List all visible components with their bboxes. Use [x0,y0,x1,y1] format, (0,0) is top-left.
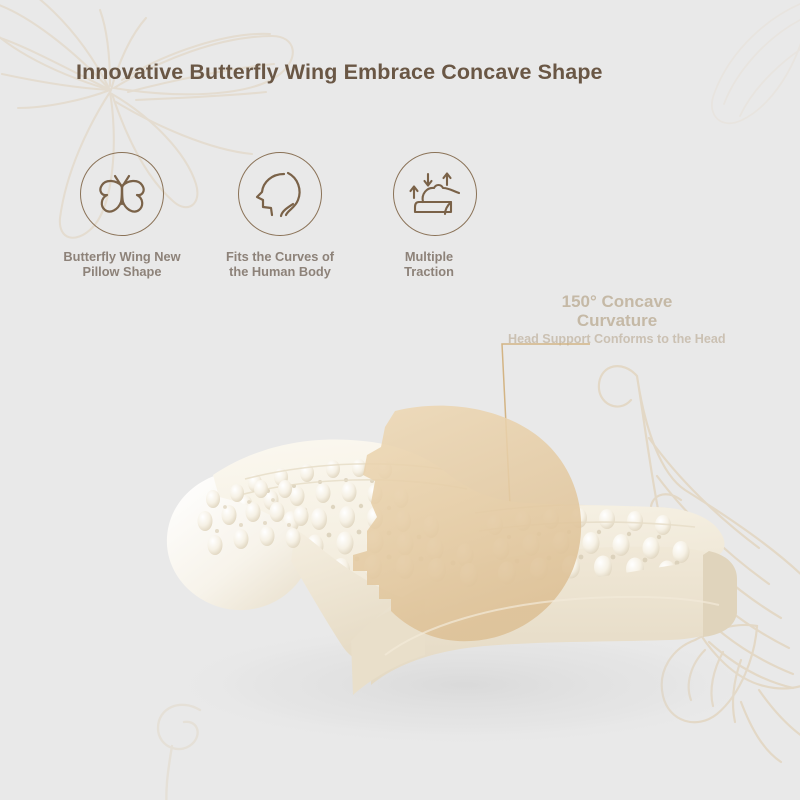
feature-icon-circle [80,152,164,236]
feature-icon-circle [238,152,322,236]
feature-item-butterfly-shape: Butterfly Wing New Pillow Shape [42,152,202,279]
product-photo-latex-pillow [95,355,795,775]
feature-label: Multiple Traction [343,250,515,279]
callout-title: 150° Concave Curvature [508,292,726,330]
feature-label: Butterfly Wing New Pillow Shape [42,250,202,279]
traction-arrows-icon [407,170,463,218]
feature-label: Fits the Curves of the Human Body [200,250,360,279]
feature-icon-circle [393,152,477,236]
head-profile-icon [254,170,306,218]
feature-item-multiple-traction: Multiple Traction [355,152,515,279]
infographic-page: Innovative Butterfly Wing Embrace Concav… [0,0,800,800]
floral-watermark-top-right [610,0,800,180]
butterfly-icon [96,171,148,217]
page-title: Innovative Butterfly Wing Embrace Concav… [76,60,603,85]
pillow-right-end [703,551,737,637]
feature-item-body-curves: Fits the Curves of the Human Body [200,152,360,279]
